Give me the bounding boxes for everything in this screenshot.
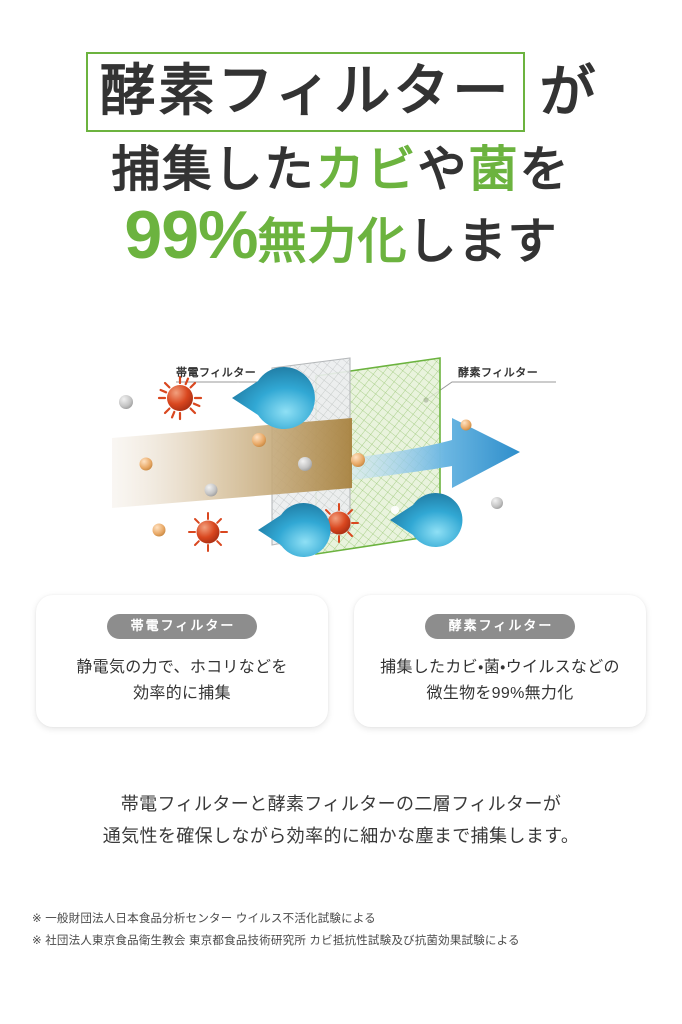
card-badge: 帯電フィルター	[107, 614, 258, 639]
headline-line-2: 捕集したカビや菌を	[0, 146, 682, 195]
card-charged-filter: 帯電フィルター 静電気の力で、ホコリなどを 効率的に捕集	[36, 595, 328, 727]
footnotes: ※ 一般財団法人日本食品分析センター ウイルス不活化試験による ※ 社団法人東京…	[32, 908, 662, 953]
diagram-canvas	[0, 340, 682, 580]
card-description-line-1: 静電気の力で、ホコリなどを	[36, 655, 328, 681]
card-description-line-2: 微生物を99%無力化	[354, 681, 646, 707]
footnote-item: ※ 社団法人東京食品衛生教会 東京都食品技術研究所 カビ抵抗性試験及び抗菌効果試…	[32, 930, 662, 952]
headline-line-2-part-1: 捕集した	[111, 143, 315, 197]
card-description: 捕集したカビ・菌・ウイルスなどの 微生物を99%無力化	[354, 655, 646, 707]
filter-diagram: 帯電フィルター 酵素フィルター	[0, 340, 682, 580]
diagram-label-charged-filter: 帯電フィルター	[176, 364, 256, 380]
summary-line-2: 通気性を確保しながら効率的に細かな塵まで捕集します。	[0, 820, 682, 852]
headline-percentage: 99%	[124, 197, 257, 273]
headline-line-1-suffix: が	[539, 64, 596, 120]
card-description: 静電気の力で、ホコリなどを 効率的に捕集	[36, 655, 328, 707]
summary-paragraph: 帯電フィルターと酵素フィルターの二層フィルターが 通気性を確保しながら効率的に細…	[0, 788, 682, 852]
summary-line-1: 帯電フィルターと酵素フィルターの二層フィルターが	[0, 788, 682, 820]
card-enzyme-filter: 酵素フィルター 捕集したカビ・菌・ウイルスなどの 微生物を99%無力化	[354, 595, 646, 727]
leader-line-right	[423, 382, 556, 403]
virus-particle	[159, 377, 201, 419]
headline-line-3-suffix: します	[408, 215, 558, 269]
card-description-line-2: 効率的に捕集	[36, 681, 328, 707]
headline-line-2-bacteria: 菌	[469, 143, 520, 197]
headline-boxed-term: 酵素フィルター	[86, 52, 526, 132]
headline: 酵素フィルターが 捕集したカビや菌を 99%無力化します	[0, 52, 682, 269]
headline-neutralize: 無力化	[258, 215, 408, 269]
headline-line-1: 酵素フィルターが	[0, 52, 682, 132]
headline-line-2-part-3: や	[417, 143, 468, 197]
virus-particle	[189, 513, 227, 551]
enzyme-pacman	[258, 503, 330, 557]
headline-line-3: 99%無力化します	[0, 201, 682, 269]
diagram-label-enzyme-filter: 酵素フィルター	[458, 364, 538, 380]
card-description-line-1: 捕集したカビ・菌・ウイルスなどの	[354, 655, 646, 681]
headline-line-2-mold: カビ	[315, 143, 417, 197]
headline-line-2-part-5: を	[520, 143, 571, 197]
filter-cards: 帯電フィルター 静電気の力で、ホコリなどを 効率的に捕集 酵素フィルター 捕集し…	[36, 595, 646, 727]
card-badge: 酵素フィルター	[425, 614, 576, 639]
footnote-item: ※ 一般財団法人日本食品分析センター ウイルス不活化試験による	[32, 908, 662, 930]
